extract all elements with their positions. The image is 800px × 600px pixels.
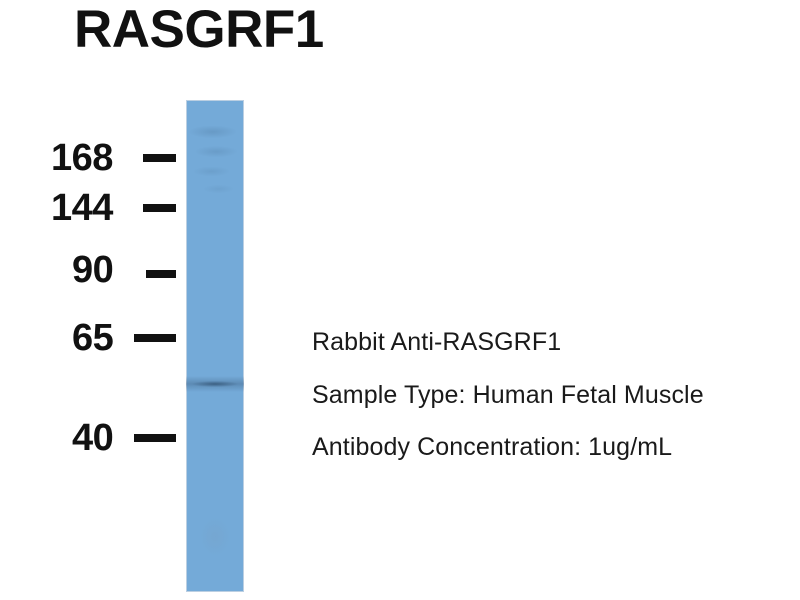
lane-bottom-smear	[186, 500, 244, 592]
ladder-label-168: 168	[51, 139, 113, 177]
rasgrf1-protein-band	[186, 376, 244, 392]
ladder-dash-144	[143, 204, 176, 212]
ladder-marker-40: 40	[72, 416, 113, 460]
ladder-marker-65: 65	[72, 316, 113, 360]
annotation-antibody: Rabbit Anti-RASGRF1	[312, 330, 772, 356]
annotation-sample-type: Sample Type: Human Fetal Muscle	[312, 383, 712, 409]
annotation-antibody-concentration: Antibody Concentration: 1ug/mL	[312, 435, 772, 461]
ladder-dash-168	[143, 154, 176, 162]
ladder-label-144: 144	[51, 189, 113, 227]
ladder-label-40: 40	[72, 419, 113, 457]
western-blot-figure: RASGRF1 168 144 90 65 40 Rabbit Anti-RAS…	[0, 0, 800, 600]
lane-top-smear	[186, 112, 244, 222]
ladder-marker-168: 168	[51, 136, 113, 180]
annotation-block: Rabbit Anti-RASGRF1 Sample Type: Human F…	[312, 330, 772, 461]
ladder-dash-40	[134, 434, 176, 442]
ladder-label-90: 90	[72, 251, 113, 289]
ladder-dash-90	[146, 270, 176, 278]
ladder-marker-90: 90	[72, 248, 113, 292]
gel-lane	[186, 100, 244, 592]
molecular-weight-ladder: 168 144 90 65 40	[0, 0, 180, 600]
ladder-label-65: 65	[72, 319, 113, 357]
ladder-marker-144: 144	[51, 186, 113, 230]
ladder-dash-65	[134, 334, 176, 342]
